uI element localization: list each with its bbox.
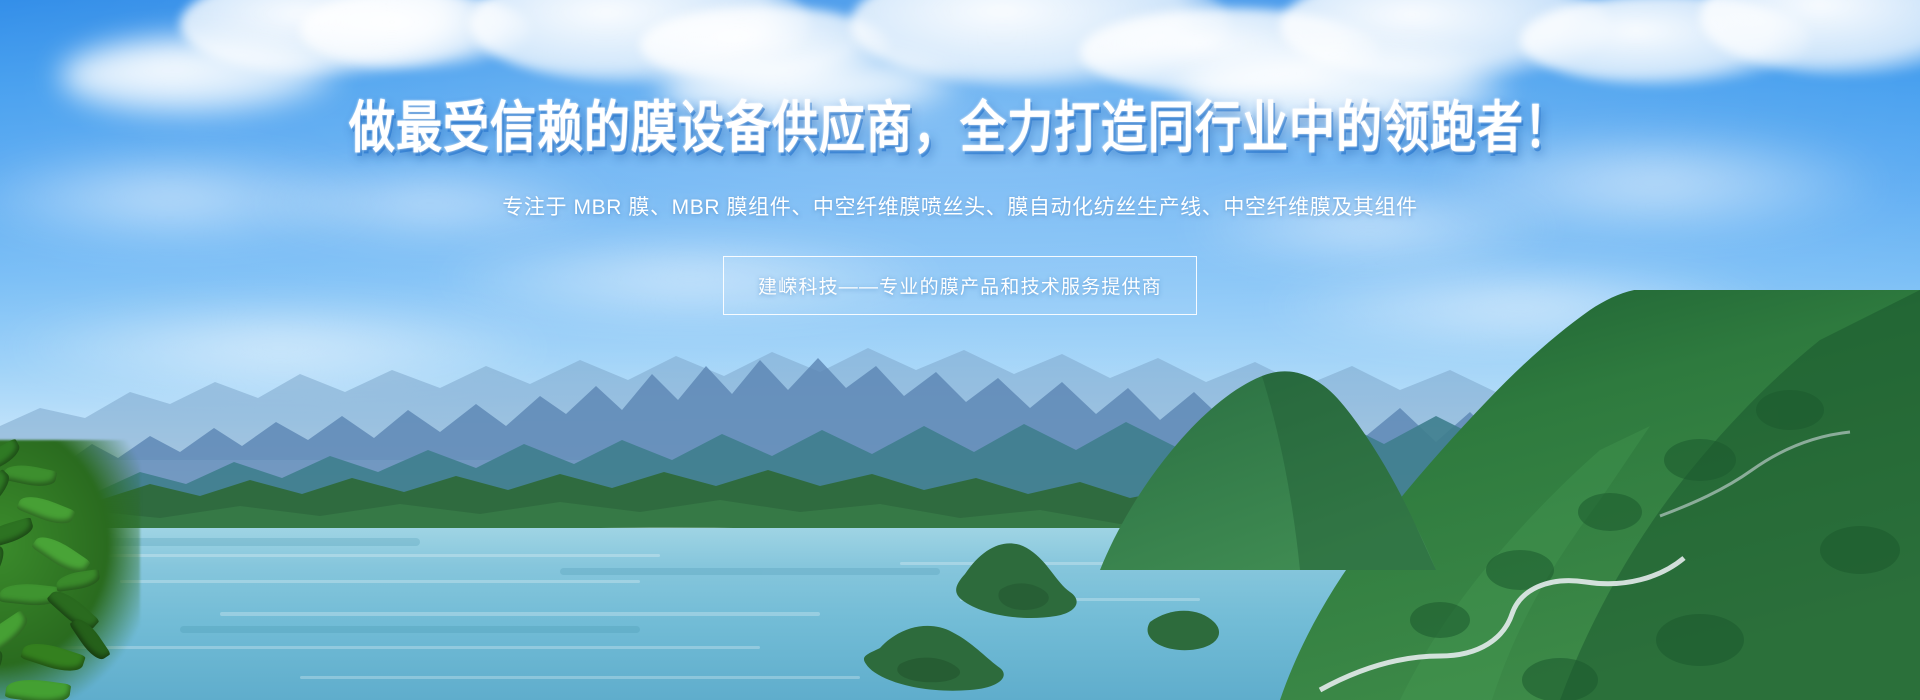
hero-banner: 做最受信赖的膜设备供应商，全力打造同行业中的领跑者！ 专注于 MBR 膜、MBR… [0,0,1920,700]
tagline-box: 建嵘科技——专业的膜产品和技术服务提供商 [723,256,1197,315]
page-title: 做最受信赖的膜设备供应商，全力打造同行业中的领跑者！ [349,98,1571,157]
banner-subtitle: 专注于 MBR 膜、MBR 膜组件、中空纤维膜喷丝头、膜自动化纺丝生产线、中空纤… [502,192,1417,224]
tagline-text: 建嵘科技——专业的膜产品和技术服务提供商 [758,277,1162,298]
center-green-peak [0,330,1920,570]
foreground-foliage [0,440,200,700]
